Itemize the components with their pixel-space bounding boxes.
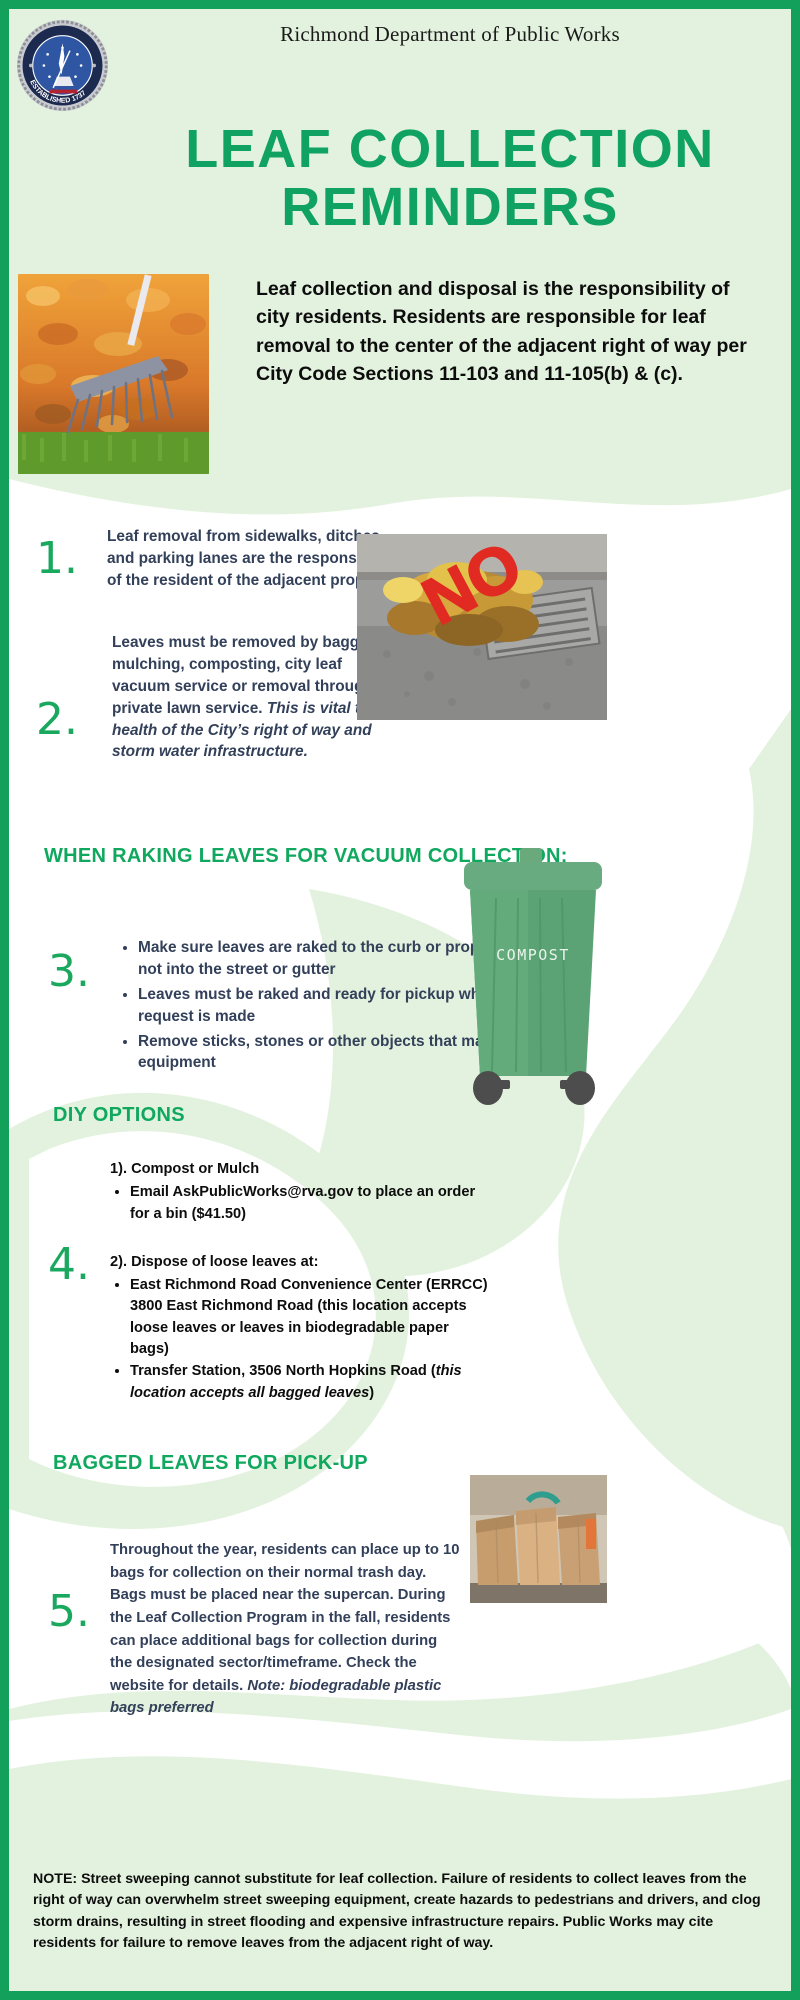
item-5-text-normal: Throughout the year, residents can place…: [110, 1542, 459, 1694]
item-4-bullet2-normal: Transfer Station, 3506 North Hopkins Roa…: [130, 1363, 436, 1379]
leaf-pile-photo: [18, 274, 209, 474]
compost-bin-label: COMPOST: [496, 946, 570, 964]
section-heading-diy: DIY OPTIONS: [53, 1104, 185, 1127]
page-title-line-2: REMINDERS: [120, 178, 780, 236]
item-number-1: 1.: [36, 537, 78, 581]
seal-text-top: CITY OF RICHMOND: [16, 19, 19, 21]
item-4-bullet2-tail: ): [369, 1385, 374, 1401]
compost-bin-illustration: COMPOST: [448, 848, 618, 1133]
paper-leaf-bags-photo: [470, 1475, 607, 1603]
section-heading-bagged: BAGGED LEAVES FOR PICK-UP: [53, 1452, 368, 1475]
item-number-5: 5.: [48, 1590, 90, 1634]
department-title: Richmond Department of Public Works: [130, 22, 770, 47]
item-4-sub1-label: 1). Compost or Mulch: [110, 1159, 490, 1180]
footer-note: NOTE: Street sweeping cannot substitute …: [33, 1869, 770, 1954]
storm-drain-blocked-photo: NO: [357, 534, 607, 720]
list-item: Email AskPublicWorks@rva.gov to place an…: [130, 1182, 490, 1225]
item-number-4: 4.: [48, 1243, 90, 1287]
item-5-text: Throughout the year, residents can place…: [110, 1539, 460, 1720]
svg-text:CITY OF RICHMOND: CITY OF RICHMOND: [16, 19, 19, 21]
page-title-line-1: LEAF COLLECTION: [185, 119, 714, 179]
intro-paragraph: Leaf collection and disposal is the resp…: [256, 275, 763, 389]
item-number-3: 3.: [48, 950, 90, 994]
item-4-sub2-label: 2). Dispose of loose leaves at:: [110, 1252, 490, 1273]
page-title: LEAF COLLECTION REMINDERS: [120, 120, 780, 237]
list-item: East Richmond Road Convenience Center (E…: [130, 1275, 490, 1360]
city-seal-icon: CITY OF RICHMOND ESTABLISHED 1737: [16, 19, 109, 112]
leaf-collection-infographic: CITY OF RICHMOND ESTABLISHED 1737 Richmo…: [0, 0, 800, 2000]
item-4-content: 1). Compost or Mulch Email AskPublicWork…: [110, 1159, 490, 1405]
list-item: Transfer Station, 3506 North Hopkins Roa…: [130, 1361, 490, 1404]
item-number-2: 2.: [36, 698, 78, 742]
